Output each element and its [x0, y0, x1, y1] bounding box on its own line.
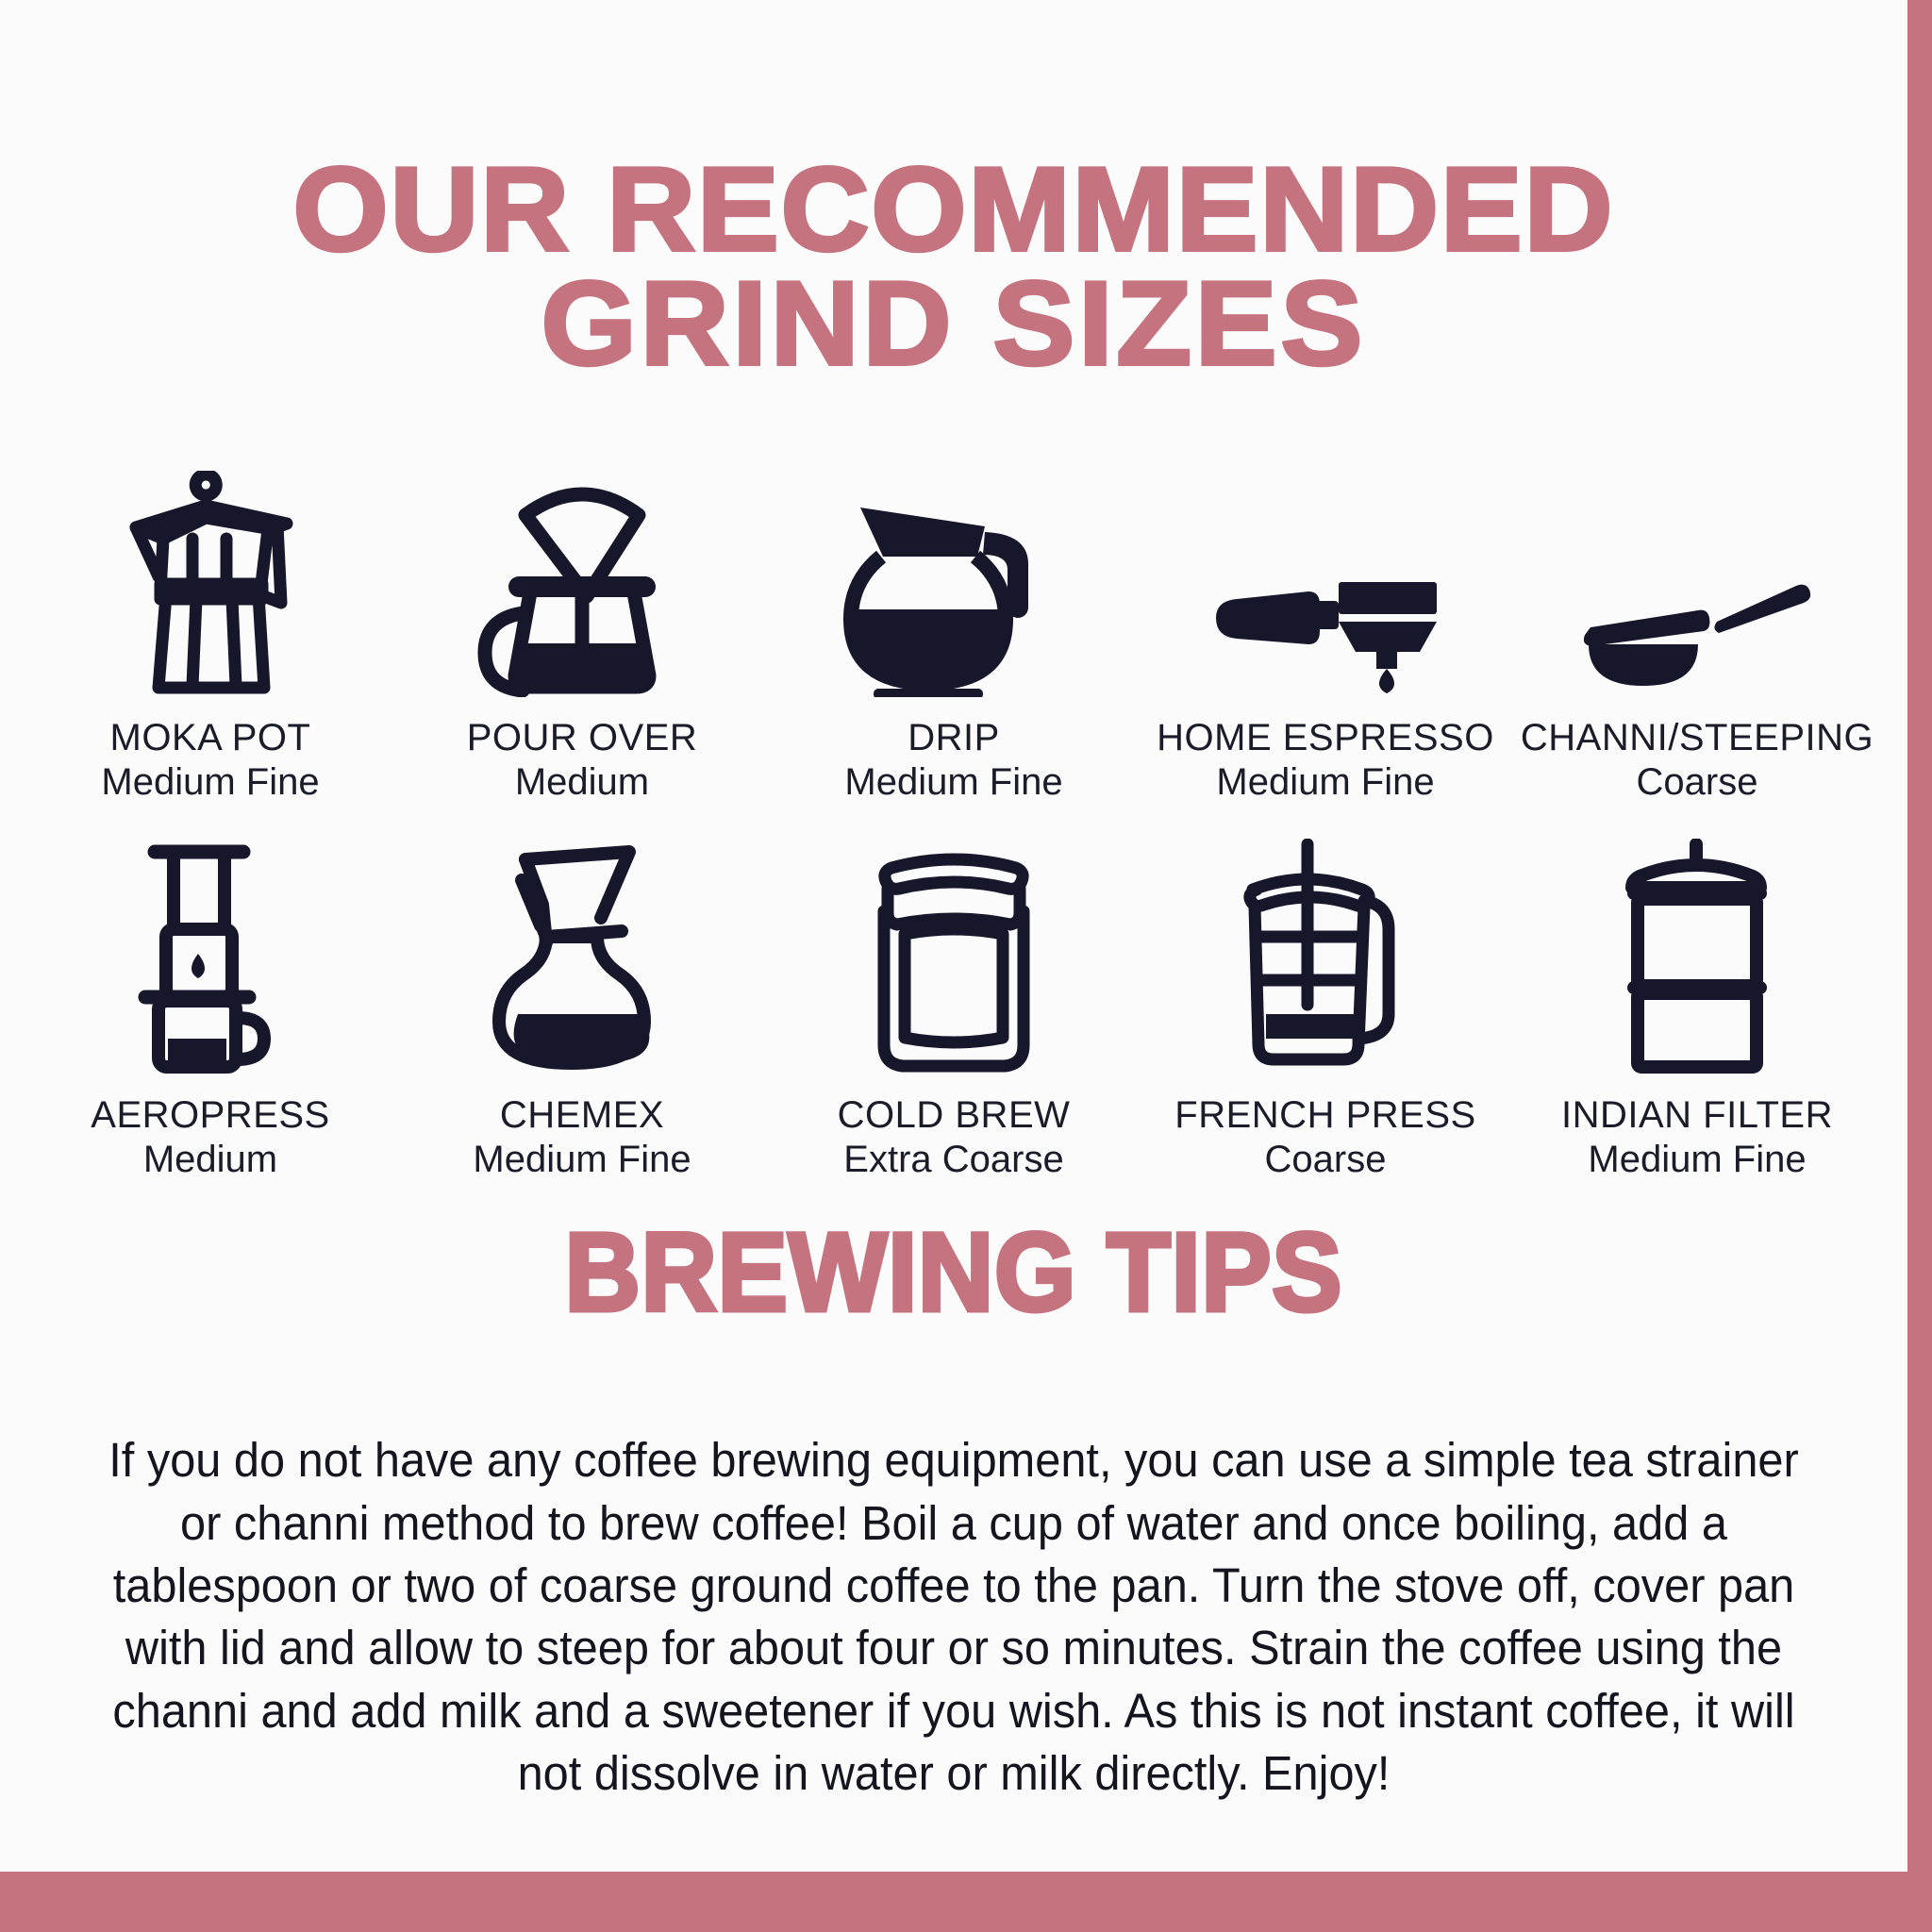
method-card-home-espresso[interactable]: HOME ESPRESSO Medium Fine: [1140, 461, 1511, 805]
method-card-moka-pot[interactable]: MOKA POT Medium Fine: [25, 461, 396, 805]
indian-filter-icon: [1511, 829, 1883, 1074]
method-caption: DRIP Medium Fine: [844, 716, 1062, 805]
method-caption: INDIAN FILTER Medium Fine: [1561, 1093, 1833, 1182]
grind-grid-row-2: AEROPRESS Medium: [0, 829, 1907, 1182]
method-grind: Medium Fine: [1157, 760, 1494, 805]
method-card-indian-filter[interactable]: INDIAN FILTER Medium Fine: [1511, 829, 1883, 1182]
method-name: MOKA POT: [101, 716, 319, 760]
strainer-icon: [1511, 461, 1883, 697]
portafilter-icon: [1140, 461, 1511, 697]
title-line-1: OUR RECOMMENDED: [0, 153, 1907, 267]
pour-over-icon: [396, 461, 768, 697]
title-line-2: GRIND SIZES: [0, 267, 1907, 381]
method-card-aeropress[interactable]: AEROPRESS Medium: [25, 829, 396, 1182]
method-name: CHEMEX: [473, 1093, 691, 1138]
method-name: INDIAN FILTER: [1561, 1093, 1833, 1138]
method-grind: Coarse: [1521, 760, 1874, 805]
cold-brew-jar-icon: [768, 829, 1140, 1074]
method-card-pour-over[interactable]: POUR OVER Medium: [396, 461, 768, 805]
drip-carafe-icon: [768, 461, 1140, 697]
method-grind: Medium Fine: [1561, 1138, 1833, 1182]
poster-canvas: OUR RECOMMENDED GRIND SIZES: [0, 0, 1907, 1872]
method-card-channi[interactable]: CHANNI/STEEPING Coarse: [1511, 461, 1883, 805]
grind-grid-row-1: MOKA POT Medium Fine: [0, 461, 1907, 805]
brewing-tips-body: If you do not have any coffee brewing eq…: [95, 1429, 1812, 1805]
method-grind: Coarse: [1174, 1138, 1475, 1182]
french-press-icon: [1140, 829, 1511, 1074]
method-name: POUR OVER: [467, 716, 698, 760]
page-title: OUR RECOMMENDED GRIND SIZES: [0, 79, 1907, 381]
method-name: COLD BREW: [838, 1093, 1071, 1138]
method-grind: Extra Coarse: [838, 1138, 1071, 1182]
method-card-chemex[interactable]: CHEMEX Medium Fine: [396, 829, 768, 1182]
method-name: AEROPRESS: [91, 1093, 329, 1138]
method-grind: Medium: [467, 760, 698, 805]
method-caption: AEROPRESS Medium: [91, 1093, 329, 1182]
method-grind: Medium Fine: [844, 760, 1062, 805]
method-card-french-press[interactable]: FRENCH PRESS Coarse: [1140, 829, 1511, 1182]
method-caption: MOKA POT Medium Fine: [101, 716, 319, 805]
method-caption: FRENCH PRESS Coarse: [1174, 1093, 1475, 1182]
brewing-tips-heading: BREWING TIPS: [58, 1208, 1851, 1337]
method-grind: Medium Fine: [473, 1138, 691, 1182]
method-name: FRENCH PRESS: [1174, 1093, 1475, 1138]
method-name: HOME ESPRESSO: [1157, 716, 1494, 760]
method-name: CHANNI/STEEPING: [1521, 716, 1874, 760]
method-caption: HOME ESPRESSO Medium Fine: [1157, 716, 1494, 805]
moka-pot-icon: [25, 461, 396, 697]
method-name: DRIP: [844, 716, 1062, 760]
method-grind: Medium: [91, 1138, 329, 1182]
poster-frame: OUR RECOMMENDED GRIND SIZES: [0, 0, 1932, 1932]
method-card-cold-brew[interactable]: COLD BREW Extra Coarse: [768, 829, 1140, 1182]
method-caption: CHANNI/STEEPING Coarse: [1521, 716, 1874, 805]
method-caption: POUR OVER Medium: [467, 716, 698, 805]
method-caption: COLD BREW Extra Coarse: [838, 1093, 1071, 1182]
method-card-drip[interactable]: DRIP Medium Fine: [768, 461, 1140, 805]
method-grind: Medium Fine: [101, 760, 319, 805]
chemex-icon: [396, 829, 768, 1074]
aeropress-icon: [25, 829, 396, 1074]
method-caption: CHEMEX Medium Fine: [473, 1093, 691, 1182]
